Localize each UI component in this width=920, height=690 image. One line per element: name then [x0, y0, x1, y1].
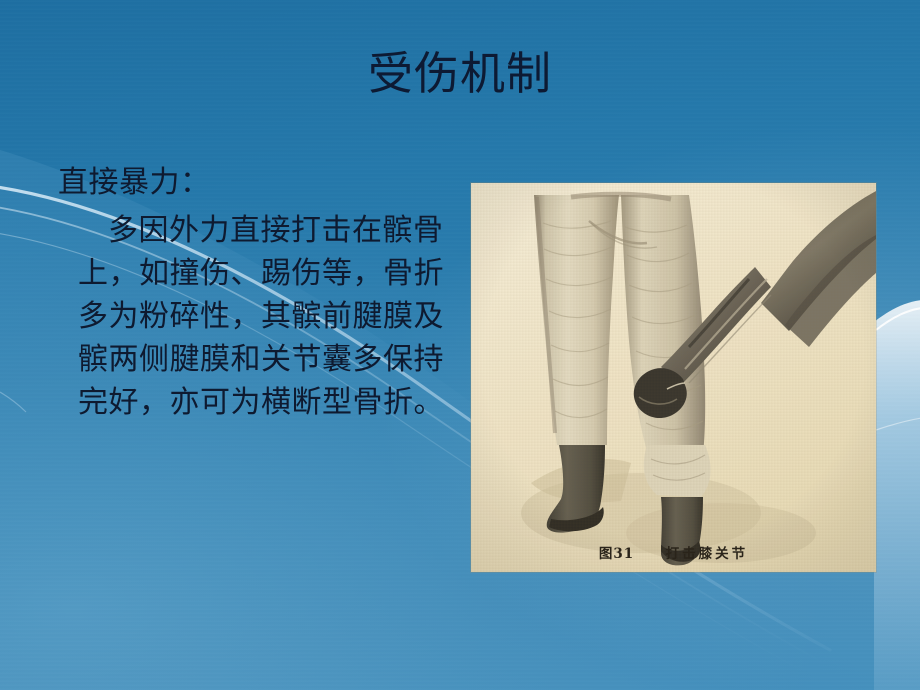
body-lead-label: 直接暴力： [58, 162, 458, 205]
presentation-slide: 受伤机制 直接暴力： 多因外力直接打击在髌骨上，如撞伤、踢伤等，骨折多为粉碎性，… [0, 0, 920, 690]
figure-caption-number: 图31 [599, 546, 634, 562]
figure-photo: 图31 打击膝关节 [471, 183, 876, 572]
body-paragraph: 多因外力直接打击在髌骨上，如撞伤、踢伤等，骨折多为粉碎性，其髌前腱膜及髌两侧腱膜… [58, 209, 458, 425]
figure-caption-text: 打击膝关节 [666, 546, 749, 562]
slide-title: 受伤机制 [0, 48, 920, 100]
slide-body-text: 直接暴力： 多因外力直接打击在髌骨上，如撞伤、踢伤等，骨折多为粉碎性，其髌前腱膜… [58, 162, 458, 425]
figure-caption: 图31 打击膝关节 [471, 542, 876, 562]
figure-photo-artwork [471, 183, 876, 572]
